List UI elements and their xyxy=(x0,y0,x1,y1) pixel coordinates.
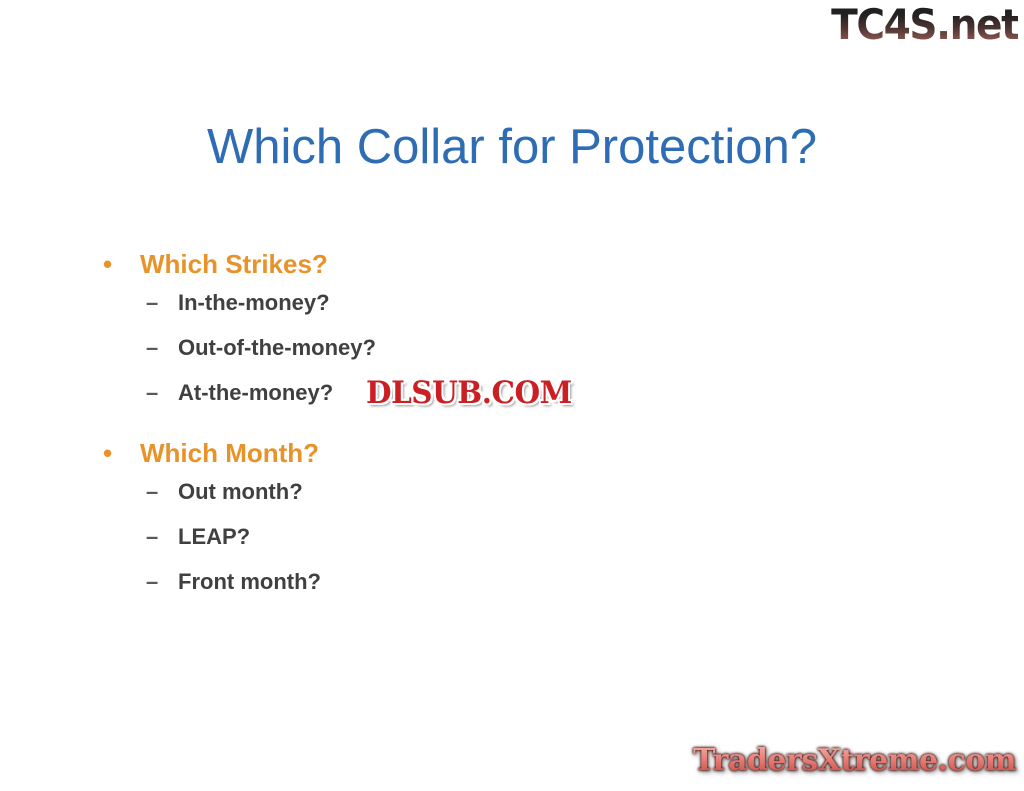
bullet-level2-out-month: – Out month? xyxy=(95,478,875,506)
bullet-level2-label: Out-of-the-money? xyxy=(178,335,376,360)
tc4s-brand-logo: TC4S.net xyxy=(831,2,1018,48)
bullet-level2-out-of-the-money: – Out-of-the-money? xyxy=(95,334,875,362)
dash-marker-icon: – xyxy=(146,379,158,407)
tradersxtreme-brand-logo: TradersXtreme.com xyxy=(693,743,1016,779)
bullet-level2-label: Front month? xyxy=(178,569,321,594)
slide-title: Which Collar for Protection? xyxy=(0,118,1024,176)
bullet-level1-label: Which Month? xyxy=(140,438,319,468)
bullet-level2-leap: – LEAP? xyxy=(95,523,875,551)
bullet-level2-label: In-the-money? xyxy=(178,290,330,315)
bullet-level2-in-the-money: – In-the-money? xyxy=(95,289,875,317)
bullet-dot-icon: • xyxy=(103,248,112,280)
dlsub-watermark: DLSUB.COM xyxy=(366,376,572,410)
bullet-group: • Which Month? – Out month? – LEAP? – Fr… xyxy=(95,437,875,596)
bullet-level2-front-month: – Front month? xyxy=(95,568,875,596)
bullet-level1-which-month: • Which Month? xyxy=(95,437,875,469)
slide-body-content: • Which Strikes? – In-the-money? – Out-o… xyxy=(95,248,875,613)
bullet-level1-which-strikes: • Which Strikes? xyxy=(95,248,875,280)
dash-marker-icon: – xyxy=(146,523,158,551)
dash-marker-icon: – xyxy=(146,478,158,506)
bullet-level2-label: LEAP? xyxy=(178,524,250,549)
bullet-level2-label: At-the-money? xyxy=(178,380,333,405)
bullet-level2-label: Out month? xyxy=(178,479,303,504)
bullet-dot-icon: • xyxy=(103,437,112,469)
dash-marker-icon: – xyxy=(146,334,158,362)
bullet-level1-label: Which Strikes? xyxy=(140,249,328,279)
slide-canvas: TC4S.net Which Collar for Protection? • … xyxy=(0,0,1024,791)
dash-marker-icon: – xyxy=(146,289,158,317)
group-spacer xyxy=(95,424,875,437)
dash-marker-icon: – xyxy=(146,568,158,596)
